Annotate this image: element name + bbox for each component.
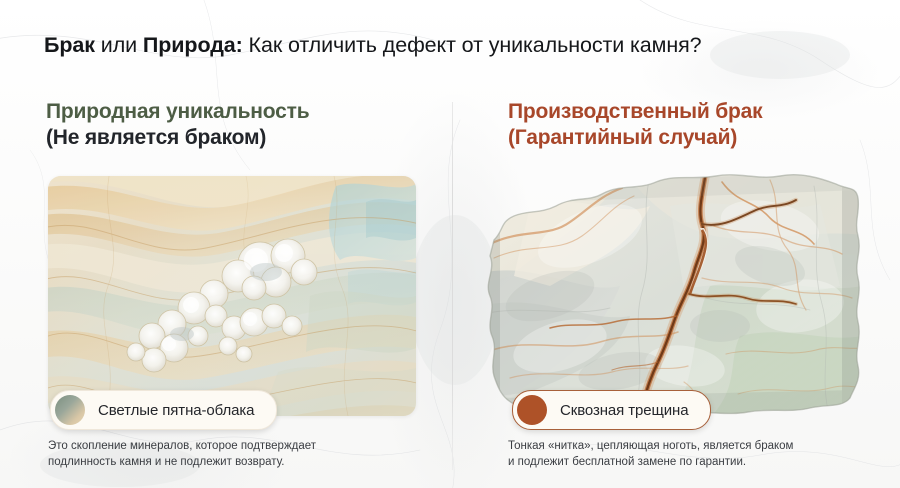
right-badge-label: Сквозная трещина [560, 402, 688, 419]
right-caption-line2: и подлежит бесплатной замене по гарантии… [508, 454, 793, 470]
left-badge: Светлые пятна-облака [50, 390, 277, 430]
cracked-onyx-photo [470, 166, 870, 421]
gradient-circle-icon [55, 395, 85, 425]
natural-onyx-photo [48, 176, 416, 416]
left-caption: Это скопление минералов, которое подтвер… [48, 438, 316, 470]
solid-circle-icon [517, 395, 547, 425]
left-heading-line1: Природная уникальность [46, 99, 309, 125]
right-heading-line2: (Гарантийный случай) [508, 125, 762, 151]
right-caption-line1: Тонкая «нитка», цепляющая ноготь, являет… [508, 438, 793, 454]
right-caption: Тонкая «нитка», цепляющая ноготь, являет… [508, 438, 793, 470]
left-column: Природная уникальность (Не является брак… [0, 0, 452, 488]
infographic-slide: Брак или Природа: Как отличить дефект от… [0, 0, 900, 488]
left-caption-line2: подлинность камня и не подлежит возврату… [48, 454, 316, 470]
left-badge-label: Светлые пятна-облака [98, 402, 254, 419]
left-column-heading: Природная уникальность (Не является брак… [46, 99, 309, 151]
right-badge: Сквозная трещина [512, 390, 711, 430]
right-heading-line1: Производственный брак [508, 99, 762, 125]
left-heading-line2: (Не является браком) [46, 125, 309, 151]
left-caption-line1: Это скопление минералов, которое подтвер… [48, 438, 316, 454]
right-column-heading: Производственный брак (Гарантийный случа… [508, 99, 762, 151]
